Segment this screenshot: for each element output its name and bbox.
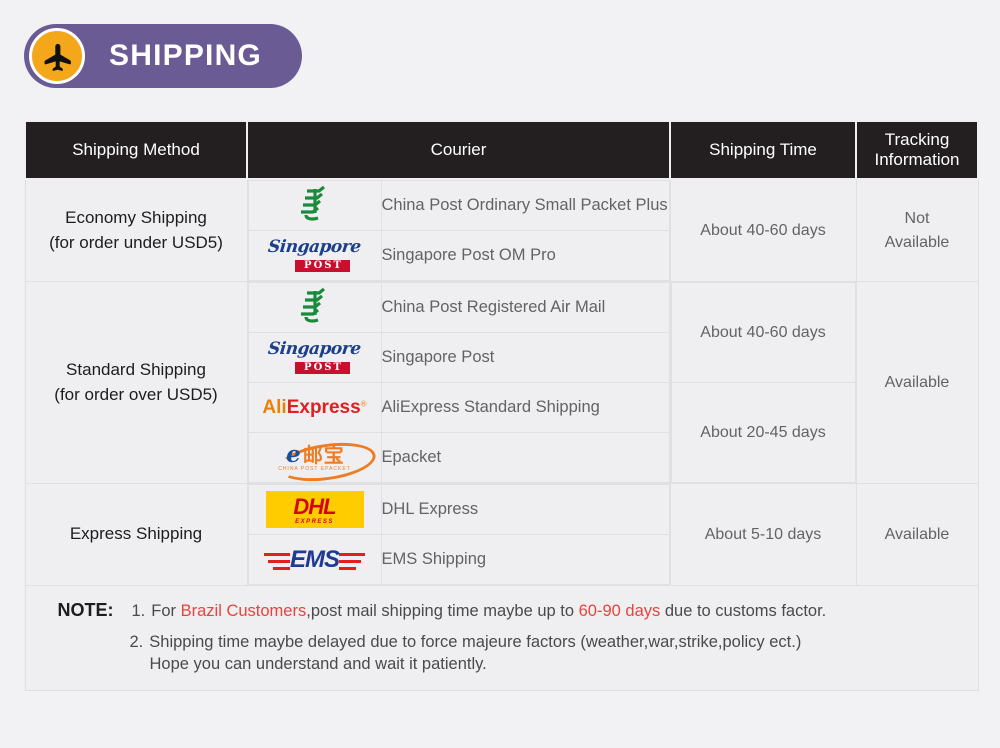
tracking-status: Available	[857, 365, 978, 400]
shipping-method-name: Economy Shipping	[65, 208, 207, 227]
shipping-method-cell: Standard Shipping(for order over USD5)	[26, 352, 247, 413]
china-post-logo	[293, 286, 337, 329]
courier-list: DHLEXPRESSDHL ExpressEMSEMS Shipping	[248, 484, 670, 585]
shipping-method-name: Standard Shipping	[66, 360, 206, 379]
banner-title: SHIPPING	[109, 39, 262, 73]
courier-cell-container: DHLEXPRESSDHL ExpressEMSEMS Shipping	[247, 484, 670, 586]
note-1-highlight-brazil: Brazil Customers	[181, 602, 307, 620]
note-2-line-1: Shipping time maybe delayed due to force…	[149, 633, 801, 652]
singapore-post-logo: SingaporePOST	[268, 239, 361, 272]
header-shipping-method: Shipping Method	[25, 121, 247, 179]
table-body: Economy Shipping(for order under USD5)Ch…	[25, 179, 978, 586]
courier-logo-cell: EMS	[248, 535, 381, 585]
epacket-logo: e邮宝CHINA POST EPACKET	[276, 443, 353, 472]
note-label: NOTE:	[58, 600, 114, 621]
shipping-time-list: About 40-60 daysAbout 20-45 days	[671, 282, 856, 483]
courier-name: Singapore Post OM Pro	[381, 231, 669, 281]
courier-row: AliExpress®AliExpress Standard Shipping	[248, 383, 669, 433]
table-row: Economy Shipping(for order under USD5)Ch…	[25, 179, 978, 282]
dhl-logo: DHLEXPRESS	[266, 491, 364, 528]
shipping-method-name: Express Shipping	[70, 524, 202, 543]
courier-name: EMS Shipping	[381, 535, 669, 585]
courier-logo-cell	[248, 181, 381, 231]
courier-logo-cell: SingaporePOST	[248, 231, 381, 281]
courier-cell-container: China Post Ordinary Small Packet PlusSin…	[247, 179, 670, 282]
table-row: Express ShippingDHLEXPRESSDHL ExpressEMS…	[25, 484, 978, 586]
table-header-row: Shipping Method Courier Shipping Time Tr…	[25, 121, 978, 179]
note-item-1: NOTE: 1. For Brazil Customers,post mail …	[26, 600, 978, 621]
method-cell-container: Standard Shipping(for order over USD5)	[25, 282, 247, 484]
shipping-time-row: About 40-60 days	[671, 283, 855, 383]
shipping-time-row: About 20-45 days	[671, 383, 855, 483]
shipping-method-cell: Express Shipping	[26, 516, 247, 553]
note-item-2: 2. Shipping time maybe delayed due to fo…	[26, 633, 978, 652]
tracking-status-line-1: Available	[861, 523, 974, 546]
note-1-highlight-days: 60-90 days	[579, 602, 661, 620]
courier-row: China Post Registered Air Mail	[248, 283, 669, 333]
shipping-info-table: Shipping Method Courier Shipping Time Tr…	[24, 120, 979, 691]
shipping-time-cell-container: About 40-60 daysAbout 20-45 days	[670, 282, 856, 484]
courier-name: China Post Ordinary Small Packet Plus	[381, 181, 669, 231]
courier-name: Singapore Post	[381, 333, 669, 383]
note-1-text: For Brazil Customers,post mail shipping …	[151, 602, 826, 621]
note-2-number: 2.	[130, 633, 144, 652]
shipping-time-value: About 40-60 days	[671, 283, 855, 383]
tracking-status-line-2: Available	[861, 231, 974, 254]
courier-row: DHLEXPRESSDHL Express	[248, 485, 669, 535]
note-2-line-2: Hope you can understand and wait it pati…	[26, 655, 978, 674]
tracking-status: Available	[857, 517, 978, 552]
shipping-time-value: About 40-60 days	[671, 213, 856, 248]
courier-name: China Post Registered Air Mail	[381, 283, 669, 333]
table-row: Standard Shipping(for order over USD5)Ch…	[25, 282, 978, 484]
courier-logo-cell: AliExpress®	[248, 383, 381, 433]
courier-name: Epacket	[381, 433, 669, 483]
shipping-time-cell-container: About 40-60 days	[670, 179, 856, 282]
courier-name: DHL Express	[381, 485, 669, 535]
tracking-status-line-1: Available	[861, 371, 974, 394]
shipping-time-value: About 20-45 days	[671, 383, 855, 483]
courier-logo-cell: SingaporePOST	[248, 333, 381, 383]
method-cell-container: Economy Shipping(for order under USD5)	[25, 179, 247, 282]
courier-row: SingaporePOSTSingapore Post OM Pro	[248, 231, 669, 281]
shipping-method-cell: Economy Shipping(for order under USD5)	[26, 200, 247, 261]
shipping-time-value: About 5-10 days	[671, 517, 856, 552]
header-courier: Courier	[247, 121, 670, 179]
note-1-number: 1.	[132, 602, 146, 621]
courier-cell-container: China Post Registered Air MailSingaporeP…	[247, 282, 670, 484]
courier-row: China Post Ordinary Small Packet Plus	[248, 181, 669, 231]
tracking-cell-container: Available	[856, 484, 978, 586]
header-shipping-time: Shipping Time	[670, 121, 856, 179]
courier-list: China Post Registered Air MailSingaporeP…	[248, 282, 670, 483]
shipping-time-cell-container: About 5-10 days	[670, 484, 856, 586]
ems-logo: EMS	[290, 546, 339, 574]
singapore-post-logo: SingaporePOST	[268, 341, 361, 374]
shipping-banner: SHIPPING	[24, 24, 302, 88]
tracking-status-line-1: Not	[861, 207, 974, 230]
courier-row: e邮宝CHINA POST EPACKETEpacket	[248, 433, 669, 483]
courier-logo-cell	[248, 283, 381, 333]
notes-section: NOTE: 1. For Brazil Customers,post mail …	[25, 586, 978, 691]
aliexpress-logo: AliExpress®	[262, 398, 366, 417]
tracking-status: NotAvailable	[857, 201, 978, 259]
courier-logo-cell: DHLEXPRESS	[248, 485, 381, 535]
courier-row: EMSEMS Shipping	[248, 535, 669, 585]
shipping-method-note: (for order under USD5)	[30, 231, 243, 256]
courier-list: China Post Ordinary Small Packet PlusSin…	[248, 180, 670, 281]
china-post-logo	[293, 184, 337, 227]
courier-name: AliExpress Standard Shipping	[381, 383, 669, 433]
courier-row: SingaporePOSTSingapore Post	[248, 333, 669, 383]
method-cell-container: Express Shipping	[25, 484, 247, 586]
shipping-method-note: (for order over USD5)	[30, 383, 243, 408]
tracking-cell-container: Available	[856, 282, 978, 484]
header-tracking-information: Tracking Information	[856, 121, 978, 179]
airplane-icon	[29, 28, 85, 84]
courier-logo-cell: e邮宝CHINA POST EPACKET	[248, 433, 381, 483]
tracking-cell-container: NotAvailable	[856, 179, 978, 282]
